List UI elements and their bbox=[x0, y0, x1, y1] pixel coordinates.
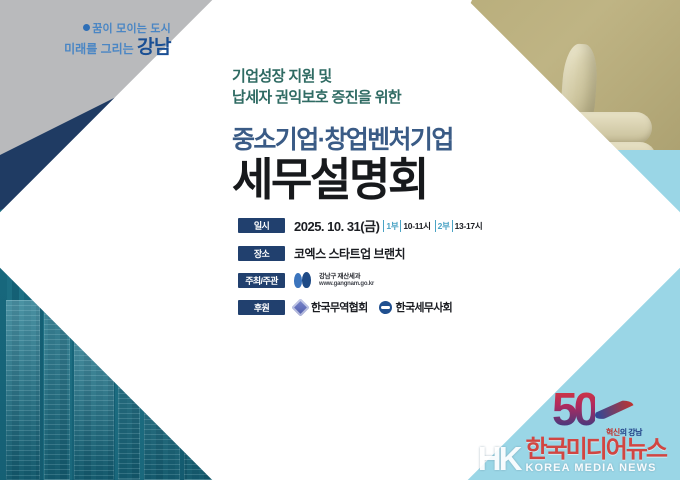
anniversary-number: 50 bbox=[552, 386, 595, 432]
press-name-en: KOREA MEDIA NEWS bbox=[525, 463, 666, 474]
info-label-venue: 장소 bbox=[238, 246, 285, 261]
headline-block: 기업성장 지원 및 납세자 권익보호 증진을 위한 중소기업·창업벤처기업 세무… bbox=[232, 66, 532, 204]
gangnam-emblem-icon bbox=[294, 272, 314, 289]
sponsor-list: 한국무역협회 한국세무사회 bbox=[294, 299, 452, 315]
session-1-label: 1부 bbox=[383, 220, 401, 232]
session-1-time: 10-11시 bbox=[403, 220, 430, 232]
info-label-sponsor: 후원 bbox=[238, 300, 285, 315]
organizer-name: 강남구 재산세과 bbox=[319, 273, 374, 280]
logo-dot-icon bbox=[83, 24, 90, 31]
event-date: 2025. 10. 31(금) bbox=[294, 216, 379, 235]
logo-tagline-bottom: 미래를 그리는 강남 bbox=[26, 38, 171, 58]
subtitle-line-1: 기업성장 지원 및 bbox=[232, 66, 532, 87]
gangnam-logo: 꿈이 모이는 도시 미래를 그리는 강남 bbox=[26, 24, 171, 68]
info-label-organizer: 주최/주관 bbox=[238, 273, 285, 288]
title-secondary: 중소기업·창업벤처기업 bbox=[232, 127, 532, 155]
organizer-url[interactable]: www.gangnam.go.kr bbox=[319, 281, 374, 288]
logo-tagline-bottom-text: 미래를 그리는 bbox=[64, 42, 137, 56]
sponsor-name: 한국무역협회 bbox=[311, 299, 368, 315]
info-value-date: 2025. 10. 31(금) 1부 10-11시 2부 13-17시 bbox=[294, 216, 482, 235]
info-row-sponsor: 후원 한국무역협회 한국세무사회 bbox=[238, 299, 538, 315]
press-names: 한국미디어뉴스 KOREA MEDIA NEWS bbox=[525, 438, 666, 474]
logo-tagline-top-text: 꿈이 모이는 도시 bbox=[92, 23, 171, 35]
anniversary-emblem: 50 혁신의 강남 bbox=[546, 386, 642, 442]
kita-logo-icon bbox=[291, 298, 309, 316]
session-2-time: 13-17시 bbox=[455, 220, 483, 232]
session-2: 2부 13-17시 bbox=[435, 220, 483, 232]
poster-content: 꿈이 모이는 도시 미래를 그리는 강남 기업성장 지원 및 납세자 권익보호 … bbox=[0, 0, 680, 480]
press-name-kr: 한국미디어뉴스 bbox=[525, 438, 666, 462]
subtitle-line-2: 납세자 권익보호 증진을 위한 bbox=[232, 87, 532, 108]
organizer-mark: 강남구 재산세과 www.gangnam.go.kr bbox=[294, 272, 374, 289]
event-info-list: 일시 2025. 10. 31(금) 1부 10-11시 2부 13-17시 장… bbox=[238, 216, 538, 325]
info-label-date: 일시 bbox=[238, 218, 285, 233]
info-value-venue: 코엑스 스타트업 브랜치 bbox=[294, 245, 405, 262]
sponsor-item: 한국무역협회 bbox=[294, 299, 368, 315]
sponsor-name: 한국세무사회 bbox=[396, 299, 453, 315]
logo-brand-name: 강남 bbox=[137, 37, 171, 58]
info-row-venue: 장소 코엑스 스타트업 브랜치 bbox=[238, 245, 538, 262]
organizer-text: 강남구 재산세과 www.gangnam.go.kr bbox=[319, 273, 374, 287]
swoosh-icon bbox=[593, 397, 636, 422]
info-row-organizer: 주최/주관 강남구 재산세과 www.gangnam.go.kr bbox=[238, 272, 538, 289]
info-value-sponsor: 한국무역협회 한국세무사회 bbox=[294, 299, 452, 315]
info-value-organizer: 강남구 재산세과 www.gangnam.go.kr bbox=[294, 272, 374, 289]
poster-canvas: 꿈이 모이는 도시 미래를 그리는 강남 기업성장 지원 및 납세자 권익보호 … bbox=[0, 0, 680, 480]
sponsor-item: 한국세무사회 bbox=[379, 299, 453, 315]
kacpta-logo-icon bbox=[379, 301, 392, 314]
press-mark-icon: HK bbox=[478, 444, 520, 474]
press-watermark: HK 한국미디어뉴스 KOREA MEDIA NEWS bbox=[478, 438, 666, 474]
logo-tagline-top: 꿈이 모이는 도시 bbox=[26, 24, 171, 36]
session-2-label: 2부 bbox=[435, 220, 453, 232]
session-1: 1부 10-11시 bbox=[383, 220, 430, 232]
info-row-date: 일시 2025. 10. 31(금) 1부 10-11시 2부 13-17시 bbox=[238, 216, 538, 235]
page-title: 세무설명회 bbox=[232, 156, 532, 204]
